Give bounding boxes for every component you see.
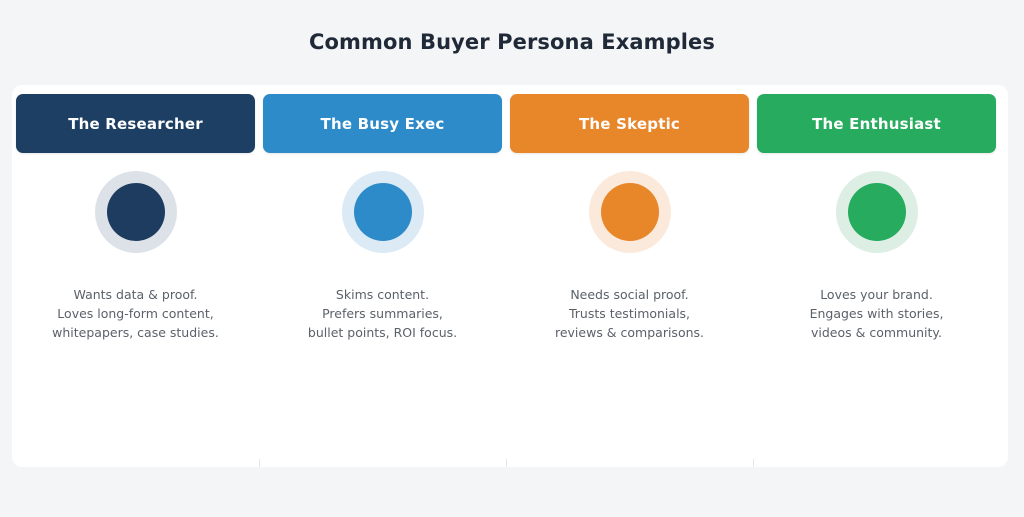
persona-page: Common Buyer Persona Examples The Resear… [0, 0, 1024, 517]
avatar-inner-icon [601, 183, 659, 241]
persona-description-researcher: Wants data & proof. Loves long-form cont… [21, 285, 251, 342]
persona-description-line: whitepapers, case studies. [21, 323, 251, 342]
persona-description-line: Loves your brand. [762, 285, 992, 304]
persona-description-enthusiast: Loves your brand. Engages with stories, … [762, 285, 992, 342]
avatar-inner-icon [354, 183, 412, 241]
persona-header-busy-exec[interactable]: The Busy Exec [263, 94, 502, 153]
persona-column-enthusiast[interactable]: The Enthusiast Loves your brand. Engages… [753, 85, 1000, 467]
persona-column-skeptic[interactable]: The Skeptic Needs social proof. Trusts t… [506, 85, 753, 467]
avatar-inner-icon [848, 183, 906, 241]
persona-description-line: Loves long-form content, [21, 304, 251, 323]
persona-header-skeptic[interactable]: The Skeptic [510, 94, 749, 153]
persona-description-line: reviews & comparisons. [515, 323, 745, 342]
avatar-inner-icon [107, 183, 165, 241]
avatar-enthusiast [836, 171, 918, 253]
persona-description-line: Prefers summaries, [268, 304, 498, 323]
page-title: Common Buyer Persona Examples [0, 30, 1024, 54]
avatar-researcher [95, 171, 177, 253]
persona-description-line: Trusts testimonials, [515, 304, 745, 323]
persona-description-line: Skims content. [268, 285, 498, 304]
persona-column-busy-exec[interactable]: The Busy Exec Skims content. Prefers sum… [259, 85, 506, 467]
avatar-busy-exec [342, 171, 424, 253]
persona-description-line: Needs social proof. [515, 285, 745, 304]
persona-description-busy-exec: Skims content. Prefers summaries, bullet… [268, 285, 498, 342]
persona-description-line: Engages with stories, [762, 304, 992, 323]
persona-header-researcher[interactable]: The Researcher [16, 94, 255, 153]
persona-description-line: bullet points, ROI focus. [268, 323, 498, 342]
persona-description-line: Wants data & proof. [21, 285, 251, 304]
persona-panel: The Researcher Wants data & proof. Loves… [12, 85, 1008, 467]
persona-description-skeptic: Needs social proof. Trusts testimonials,… [515, 285, 745, 342]
persona-description-line: videos & community. [762, 323, 992, 342]
avatar-skeptic [589, 171, 671, 253]
persona-header-enthusiast[interactable]: The Enthusiast [757, 94, 996, 153]
persona-column-researcher[interactable]: The Researcher Wants data & proof. Loves… [12, 85, 259, 467]
